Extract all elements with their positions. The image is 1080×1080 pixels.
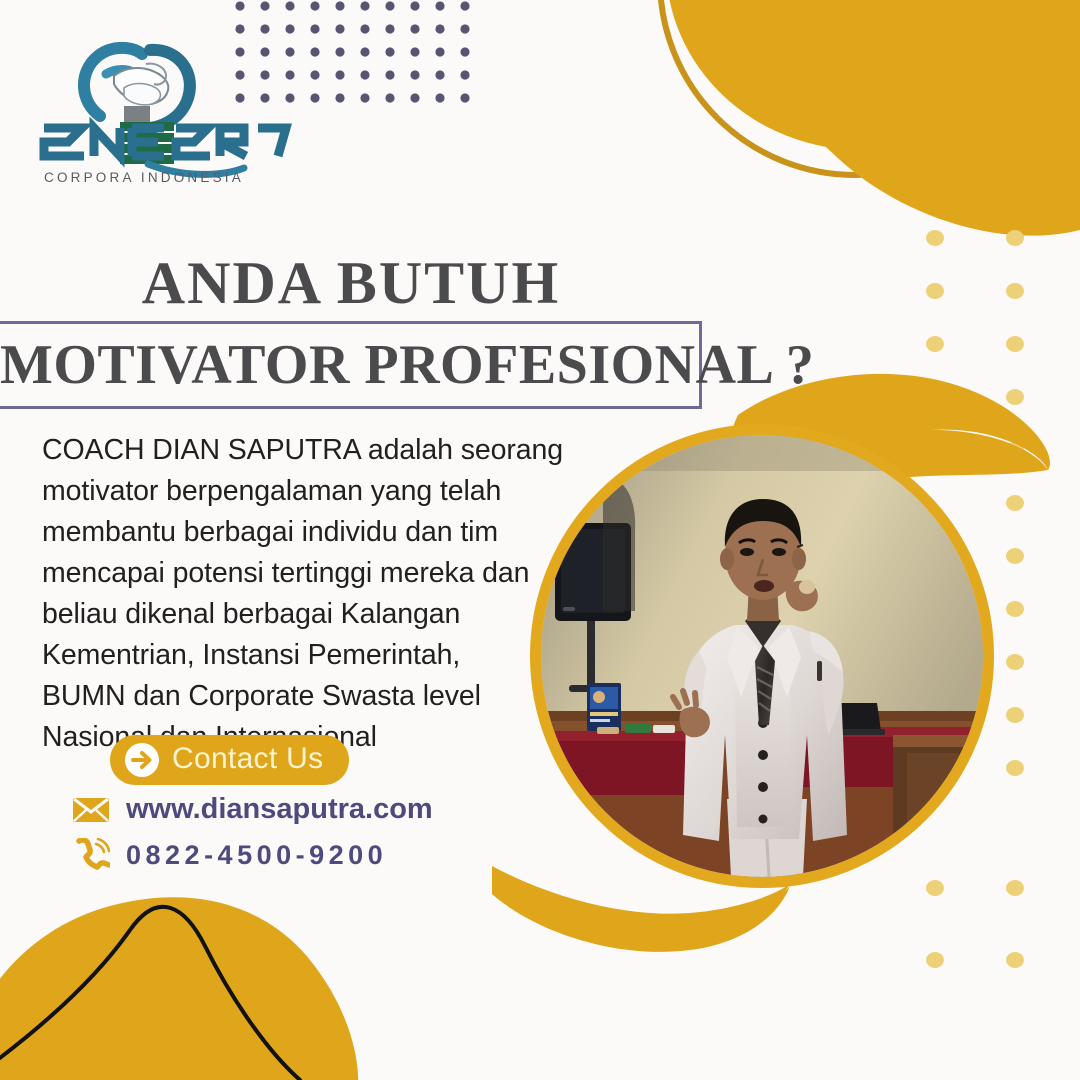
top-right-gold-blob (660, 0, 1080, 236)
page-title-line-1: ANDA BUTUH (0, 253, 702, 313)
poster-canvas: CORPORA INDONESIA ANDA BUTUH MOTIVATOR P… (0, 0, 1080, 1080)
body-line: beliau dikenal berbagai Kalangan (42, 594, 532, 635)
contact-us-button[interactable]: Contact Us (110, 735, 349, 785)
logo-tagline: CORPORA INDONESIA (44, 170, 244, 185)
website-contact-row[interactable]: www.diansaputra.com (72, 795, 433, 824)
bottom-left-gold-blob (0, 897, 358, 1080)
envelope-icon (72, 796, 110, 824)
body-line: COACH DIAN SAPUTRA adalah seorang (42, 430, 532, 471)
top-right-gold-blob-body (666, 0, 1058, 150)
gold-outline-ring (660, 0, 1050, 175)
body-line: Kementrian, Instansi Pemerintah, (42, 635, 532, 676)
arrow-right-circle-icon (124, 742, 160, 778)
website-text: www.diansaputra.com (126, 795, 433, 824)
body-line: membantu berbagai individu dan tim (42, 512, 532, 553)
body-line: motivator berpengalaman yang telah (42, 471, 532, 512)
contact-us-label: Contact Us (172, 744, 323, 777)
page-title-line-2: MOTIVATOR PROFESIONAL ? (0, 332, 708, 398)
phone-contact-row[interactable]: 0822-4500-9200 (72, 838, 387, 872)
body-paragraph: COACH DIAN SAPUTRA adalah seorang motiva… (42, 430, 532, 758)
brand-logo: CORPORA INDONESIA (28, 32, 298, 192)
phone-text: 0822-4500-9200 (126, 842, 387, 869)
black-line-curve (0, 907, 300, 1080)
photo-gold-ring (530, 424, 994, 888)
speaker-photo (530, 424, 994, 888)
phone-ringing-icon (72, 838, 110, 872)
body-line: BUMN dan Corporate Swasta level (42, 676, 532, 717)
body-line: mencapai potensi tertinggi mereka dan (42, 553, 532, 594)
